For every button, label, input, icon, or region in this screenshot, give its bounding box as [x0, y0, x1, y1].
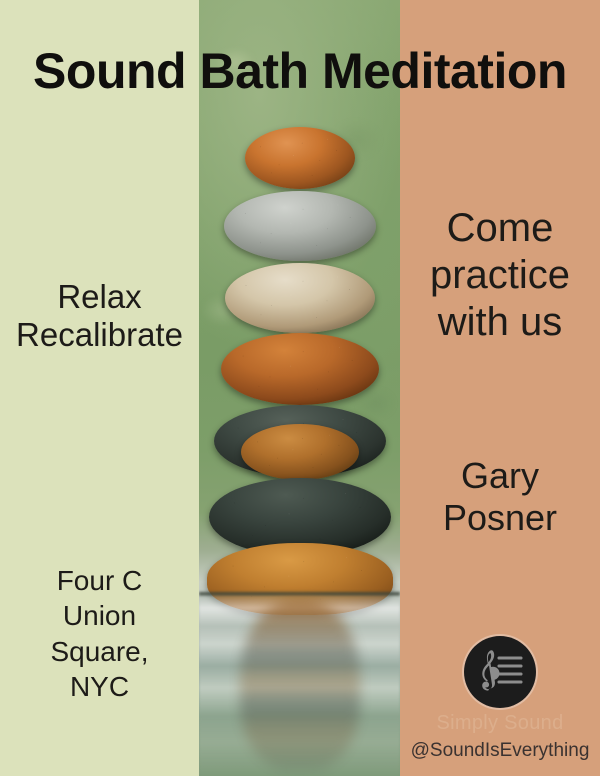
- brand-name-text: Simply Sound: [400, 712, 600, 735]
- stone-4-orange: [221, 333, 379, 405]
- poster-canvas: Sound Bath Meditation Relax Recalibrate …: [0, 0, 600, 776]
- stone-6-amber: [241, 424, 359, 480]
- social-handle: @SoundIsEverything: [400, 740, 600, 762]
- stone-stack-photo: [199, 0, 400, 776]
- invitation-text: Come practice with us: [400, 205, 600, 347]
- stone-1-orange-top: [245, 127, 355, 189]
- brand-logo: Simply Sound: [400, 636, 600, 735]
- stone-2-grey: [224, 191, 376, 261]
- treble-clef-staff-icon: [464, 636, 536, 708]
- venue-address: Four C Union Square, NYC: [0, 563, 199, 704]
- stone-3-beige: [225, 263, 375, 333]
- presenter-name: Gary Posner: [400, 455, 600, 539]
- tagline-text: Relax Recalibrate: [0, 278, 199, 353]
- stone-texture: [245, 127, 355, 189]
- stone-texture: [224, 191, 376, 261]
- stone-texture: [241, 424, 359, 480]
- stone-texture: [221, 333, 379, 405]
- stone-texture: [225, 263, 375, 333]
- page-title: Sound Bath Meditation: [0, 42, 600, 100]
- water-reflection: [240, 600, 360, 770]
